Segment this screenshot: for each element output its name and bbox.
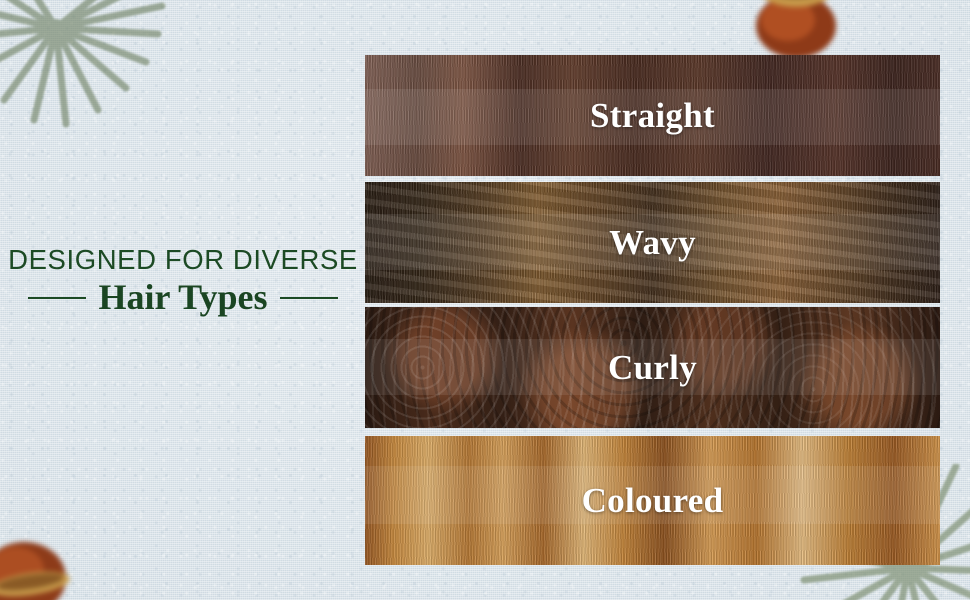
hair-type-label-curly: Curly [365, 307, 940, 428]
hair-type-label-straight: Straight [365, 55, 940, 176]
hair-type-band-straight[interactable]: Straight [365, 55, 940, 176]
headline-line-2: Hair Types [98, 279, 267, 317]
headline-line-2-row: Hair Types [0, 279, 366, 317]
hair-type-band-list: Straight Wavy Curly Coloured [365, 55, 940, 565]
hair-types-banner: DESIGNED FOR DIVERSE Hair Types Straight… [0, 0, 970, 600]
hair-type-label-wavy: Wavy [365, 182, 940, 303]
hair-type-band-coloured[interactable]: Coloured [365, 436, 940, 565]
hair-type-label-coloured: Coloured [365, 436, 940, 565]
hair-type-band-wavy[interactable]: Wavy [365, 182, 940, 303]
hair-type-band-curly[interactable]: Curly [365, 307, 940, 428]
headline-block: DESIGNED FOR DIVERSE Hair Types [0, 246, 366, 317]
headline-line-1: DESIGNED FOR DIVERSE [0, 246, 366, 275]
headline-rule-left [28, 297, 86, 299]
headline-rule-right [280, 297, 338, 299]
